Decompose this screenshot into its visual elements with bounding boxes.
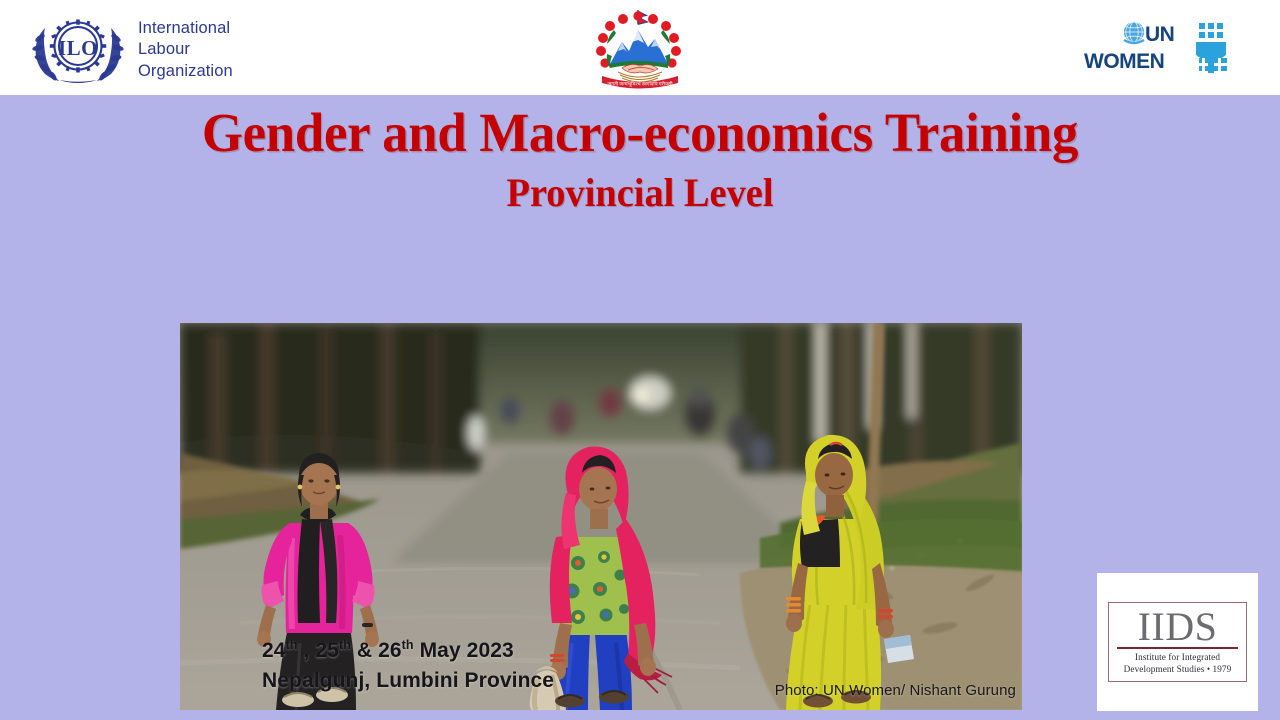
- svg-text:ILO: ILO: [58, 36, 98, 60]
- svg-text:जननी जन्मभूमिश्च स्वर्गादपि गर: जननी जन्मभूमिश्च स्वर्गादपि गरीयसी: [607, 81, 673, 88]
- header-logo-band: ILO: [0, 0, 1280, 95]
- photo-credit: Photo: UN Women/ Nishant Gurung: [775, 682, 1016, 699]
- iids-logo: IIDS Institute for Integrated Developmen…: [1108, 602, 1247, 682]
- event-date: 24th , 25th & 26th May 2023: [262, 636, 554, 666]
- nepal-government-emblem: जननी जन्मभूमिश्च स्वर्गादपि गरीयसी: [588, 6, 692, 92]
- presentation-slide: ILO: [0, 0, 1280, 720]
- photo-three-women-walking: 24th , 25th & 26th May 2023 Nepalgunj, L…: [180, 323, 1022, 710]
- un-women-logo: UN WOMEN: [1082, 20, 1248, 78]
- svg-text:UN: UN: [1145, 23, 1174, 46]
- event-date-location: 24th , 25th & 26th May 2023 Nepalgunj, L…: [262, 636, 554, 696]
- ilo-wordmark: International Labour Organization: [138, 18, 233, 81]
- page-subtitle: Provincial Level: [26, 171, 1255, 215]
- page-title: Gender and Macro-economics Training: [26, 104, 1255, 162]
- title-block: Gender and Macro-economics Training Prov…: [0, 104, 1280, 215]
- ilo-emblem-icon: ILO: [28, 14, 128, 86]
- ilo-logo: ILO: [28, 14, 233, 86]
- event-location: Nepalgunj, Lumbini Province: [262, 666, 554, 696]
- iids-acronym: IIDS: [1117, 608, 1238, 646]
- iids-fullname: Institute for Integrated Development Stu…: [1117, 652, 1238, 675]
- svg-text:WOMEN: WOMEN: [1084, 50, 1164, 73]
- iids-logo-card: IIDS Institute for Integrated Developmen…: [1097, 573, 1258, 711]
